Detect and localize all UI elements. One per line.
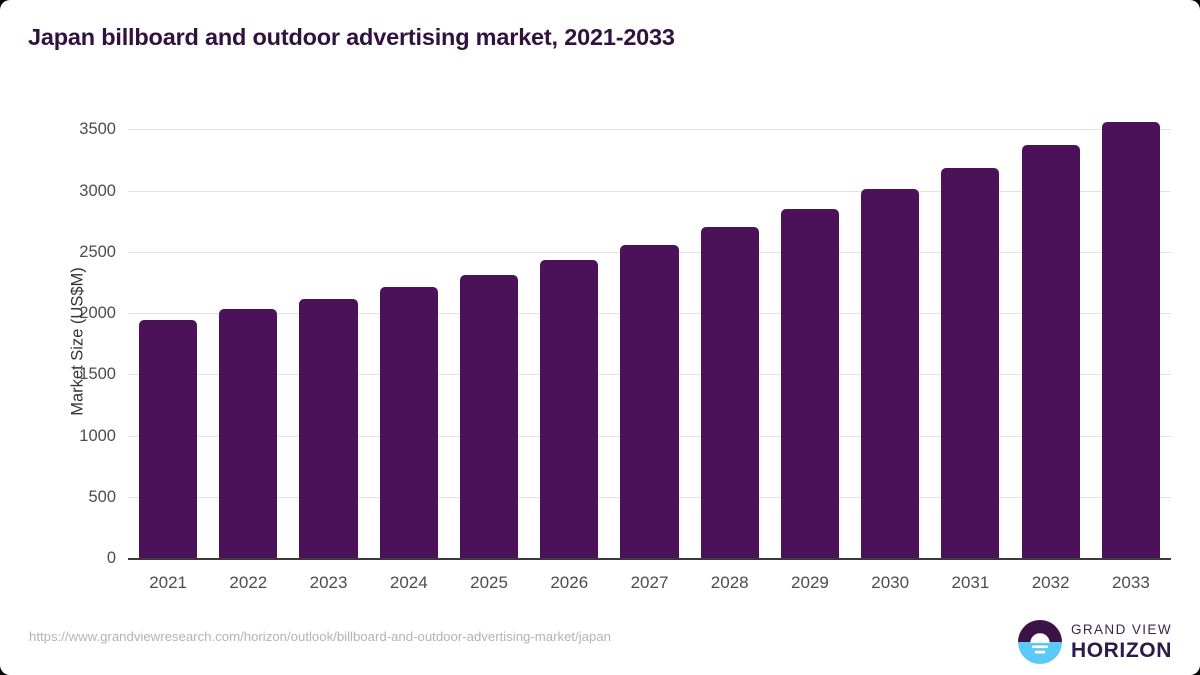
bar-2023[interactable]	[299, 299, 357, 558]
x-tick-label-2023: 2023	[310, 573, 348, 593]
x-tick-label-2028: 2028	[711, 573, 749, 593]
sunrise-circle-icon	[1018, 620, 1062, 664]
x-tick-label-2027: 2027	[631, 573, 669, 593]
y-tick-label: 1500	[56, 366, 116, 383]
bar-2026[interactable]	[540, 260, 598, 558]
gridline	[128, 191, 1171, 192]
x-axis-line	[128, 558, 1171, 560]
bar-2029[interactable]	[781, 209, 839, 558]
x-tick-label-2022: 2022	[229, 573, 267, 593]
x-tick-label-2021: 2021	[149, 573, 187, 593]
y-tick-label: 3500	[56, 121, 116, 138]
bar-2025[interactable]	[460, 275, 518, 558]
bar-2033[interactable]	[1102, 122, 1160, 558]
bar-2031[interactable]	[941, 168, 999, 558]
bar-2028[interactable]	[701, 227, 759, 558]
x-tick-label-2032: 2032	[1032, 573, 1070, 593]
x-tick-label-2025: 2025	[470, 573, 508, 593]
y-tick-label: 2500	[56, 244, 116, 261]
bar-2032[interactable]	[1022, 145, 1080, 558]
x-tick-label-2026: 2026	[550, 573, 588, 593]
y-tick-label: 3000	[56, 182, 116, 199]
x-tick-label-2031: 2031	[952, 573, 990, 593]
x-tick-label-2030: 2030	[871, 573, 909, 593]
y-tick-label: 500	[56, 489, 116, 506]
y-tick-label: 1000	[56, 427, 116, 444]
bar-2024[interactable]	[380, 287, 438, 558]
x-tick-label-2033: 2033	[1112, 573, 1150, 593]
source-url[interactable]: https://www.grandviewresearch.com/horizo…	[29, 629, 611, 644]
x-tick-label-2029: 2029	[791, 573, 829, 593]
bar-2021[interactable]	[139, 320, 197, 558]
x-tick-label-2024: 2024	[390, 573, 428, 593]
brand-logo[interactable]: GRAND VIEW HORIZON	[1018, 620, 1172, 664]
bar-2030[interactable]	[861, 189, 919, 558]
y-tick-label: 0	[56, 550, 116, 567]
logo-line-horizon: HORIZON	[1071, 640, 1172, 661]
bar-2027[interactable]	[620, 245, 678, 558]
logo-wordmark: GRAND VIEW HORIZON	[1071, 623, 1172, 662]
bar-2022[interactable]	[219, 309, 277, 558]
y-tick-label: 2000	[56, 305, 116, 322]
chart-figure: Market Size (US$M) 050010001500200025003…	[0, 0, 1200, 675]
logo-line-grand-view: GRAND VIEW	[1071, 623, 1172, 637]
chart-page: Japan billboard and outdoor advertising …	[0, 0, 1200, 675]
plot-area: 0500100015002000250030003500 20212022202…	[128, 105, 1171, 558]
gridline	[128, 129, 1171, 130]
